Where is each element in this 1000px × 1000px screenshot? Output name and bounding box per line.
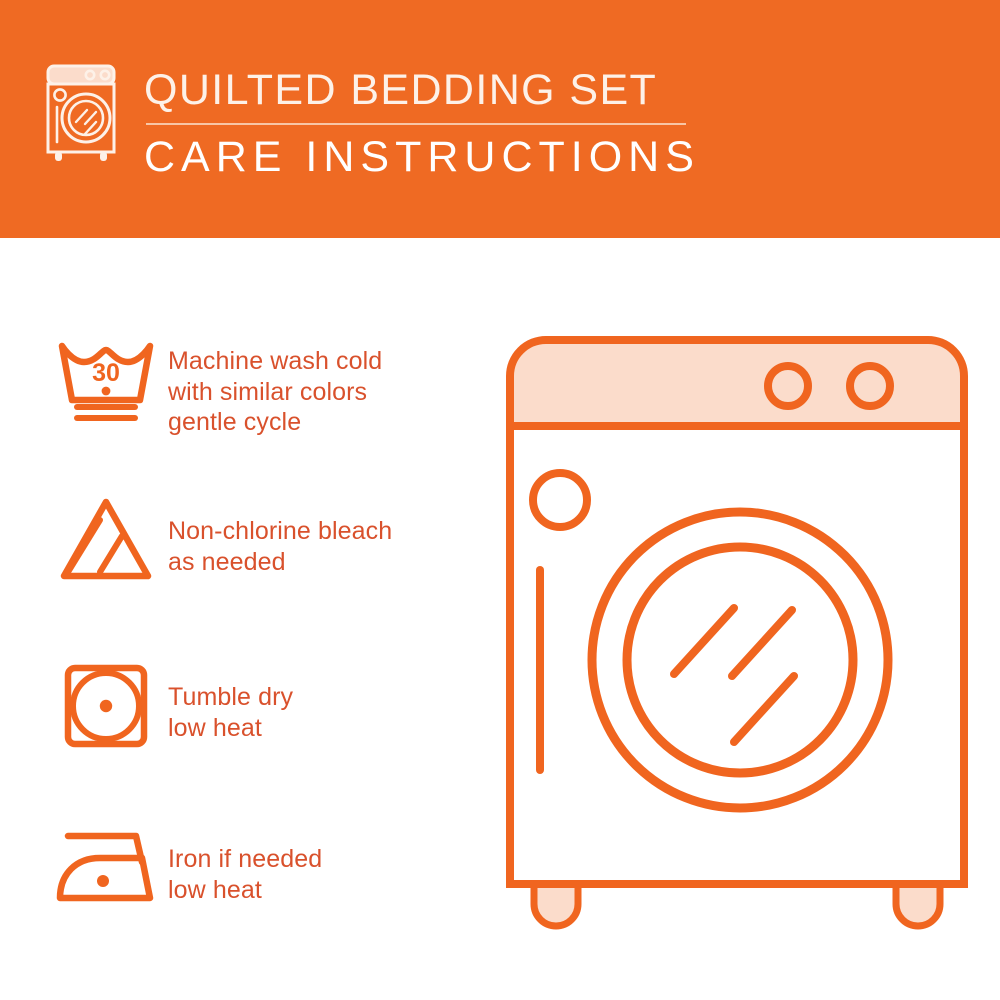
care-symbol-slot — [44, 488, 168, 582]
wash-basin-icon: 30 — [56, 338, 156, 424]
care-item-bleach: Non-chlorine bleach as needed — [44, 488, 484, 608]
care-item-machine-wash: 30 Machine wash cold with similar colors… — [44, 330, 484, 450]
low-heat-dot — [100, 700, 112, 712]
care-line: as needed — [168, 547, 484, 578]
washing-machine-illustration — [492, 330, 982, 930]
page-title: QUILTED BEDDING SET — [144, 66, 700, 114]
care-text-tumble-dry: Tumble dry low heat — [168, 654, 484, 743]
care-item-tumble-dry: Tumble dry low heat — [44, 654, 484, 774]
bleach-triangle-icon — [56, 496, 156, 582]
care-instruction-list: 30 Machine wash cold with similar colors… — [44, 330, 484, 960]
care-text-iron: Iron if needed low heat — [168, 816, 484, 905]
page-subtitle: CARE INSTRUCTIONS — [144, 133, 700, 181]
care-line: low heat — [168, 713, 484, 744]
header-text-block: QUILTED BEDDING SET CARE INSTRUCTIONS — [144, 62, 700, 181]
care-line: Machine wash cold — [168, 346, 484, 377]
header-banner: QUILTED BEDDING SET CARE INSTRUCTIONS — [0, 0, 1000, 238]
care-text-bleach: Non-chlorine bleach as needed — [168, 488, 484, 577]
care-line: low heat — [168, 875, 484, 906]
wash-temperature-label: 30 — [92, 359, 120, 387]
care-line: Iron if needed — [168, 844, 484, 875]
iron-icon — [54, 824, 158, 906]
machine-body — [510, 426, 964, 884]
care-item-iron: Iron if needed low heat — [44, 816, 484, 936]
care-symbol-slot — [44, 654, 168, 752]
tumble-dry-icon — [56, 662, 156, 752]
header-divider — [146, 123, 686, 125]
gentle-bar-2 — [74, 415, 138, 421]
washing-machine-icon — [42, 62, 126, 166]
care-line: gentle cycle — [168, 407, 484, 438]
control-panel — [510, 340, 964, 426]
header-content: QUILTED BEDDING SET CARE INSTRUCTIONS — [42, 62, 700, 181]
care-line: Non-chlorine bleach — [168, 516, 484, 547]
care-text-machine-wash: Machine wash cold with similar colors ge… — [168, 330, 484, 438]
low-heat-dot — [97, 875, 109, 887]
care-symbol-slot — [44, 816, 168, 906]
care-line: Tumble dry — [168, 682, 484, 713]
care-symbol-slot: 30 — [44, 330, 168, 424]
care-line: with similar colors — [168, 377, 484, 408]
gentle-bar-1 — [74, 404, 138, 410]
gentle-cycle-dot — [102, 387, 111, 396]
